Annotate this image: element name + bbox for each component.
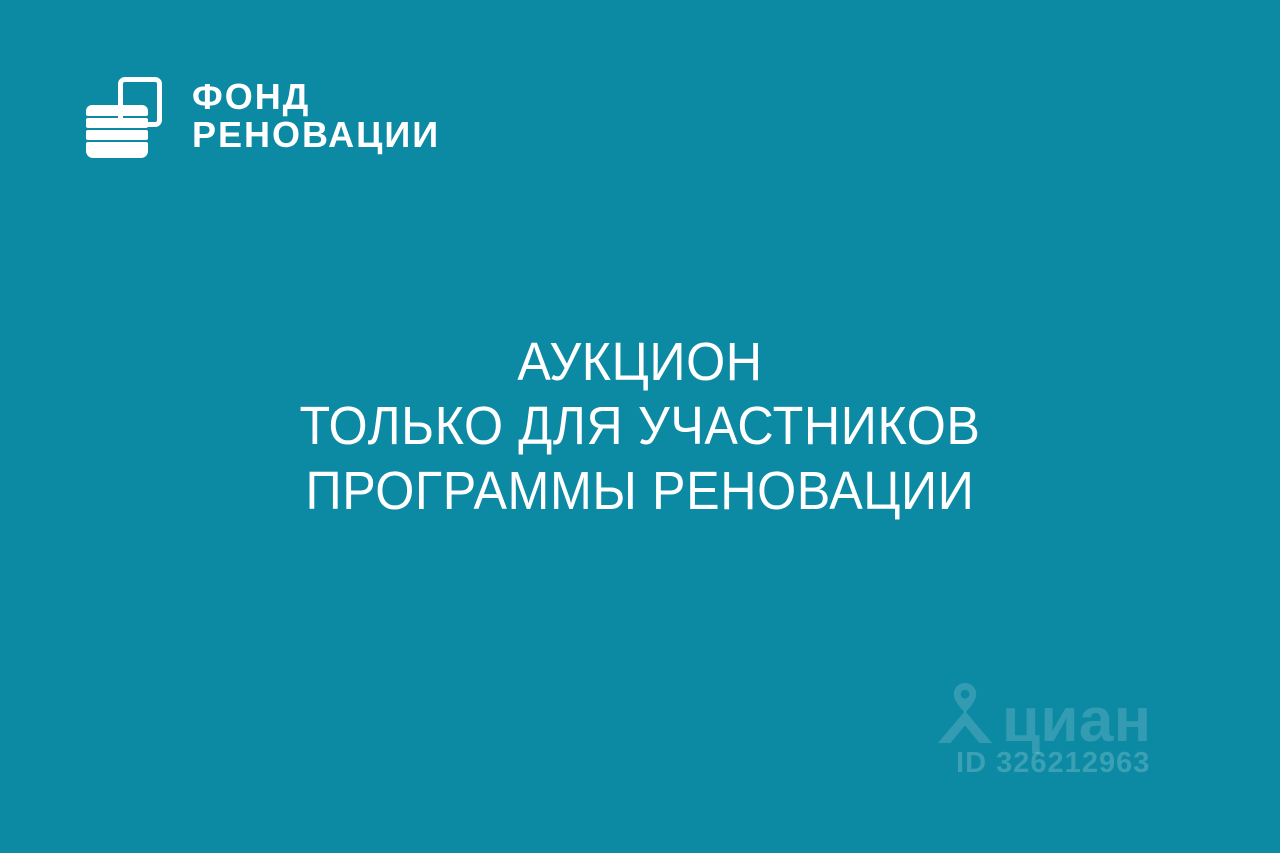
listing-id-label: ID 326212963 [956, 749, 1150, 778]
logo-bar [86, 118, 148, 128]
cian-wordmark: циан [1002, 696, 1151, 747]
headline-line-2: ТОЛЬКО ДЛЯ УЧАСТНИКОВ [45, 394, 1235, 458]
banner-canvas: ФОНД РЕНОВАЦИИ АУКЦИОН ТОЛЬКО ДЛЯ УЧАСТН… [0, 0, 1280, 853]
headline-line-1: АУКЦИОН [45, 330, 1235, 394]
cian-watermark: циан ID 326212963 [932, 681, 1162, 791]
logo-bar [86, 130, 148, 140]
logo-bar-stack [86, 105, 148, 158]
cian-logo-row: циан [932, 681, 1151, 747]
brand-wordmark: ФОНД РЕНОВАЦИИ [192, 78, 440, 154]
brand-wordmark-line-1: ФОНД [192, 78, 440, 116]
logo-bar [86, 105, 148, 116]
fond-renovatsii-logo-mark [84, 72, 166, 160]
headline-line-3: ПРОГРАММЫ РЕНОВАЦИИ [45, 459, 1235, 523]
headline-block: АУКЦИОН ТОЛЬКО ДЛЯ УЧАСТНИКОВ ПРОГРАММЫ … [0, 330, 1280, 523]
brand-wordmark-line-2: РЕНОВАЦИИ [192, 116, 440, 154]
brand-lockup: ФОНД РЕНОВАЦИИ [84, 72, 440, 160]
map-pin-chevron-icon [932, 681, 998, 747]
logo-bar [86, 142, 148, 158]
